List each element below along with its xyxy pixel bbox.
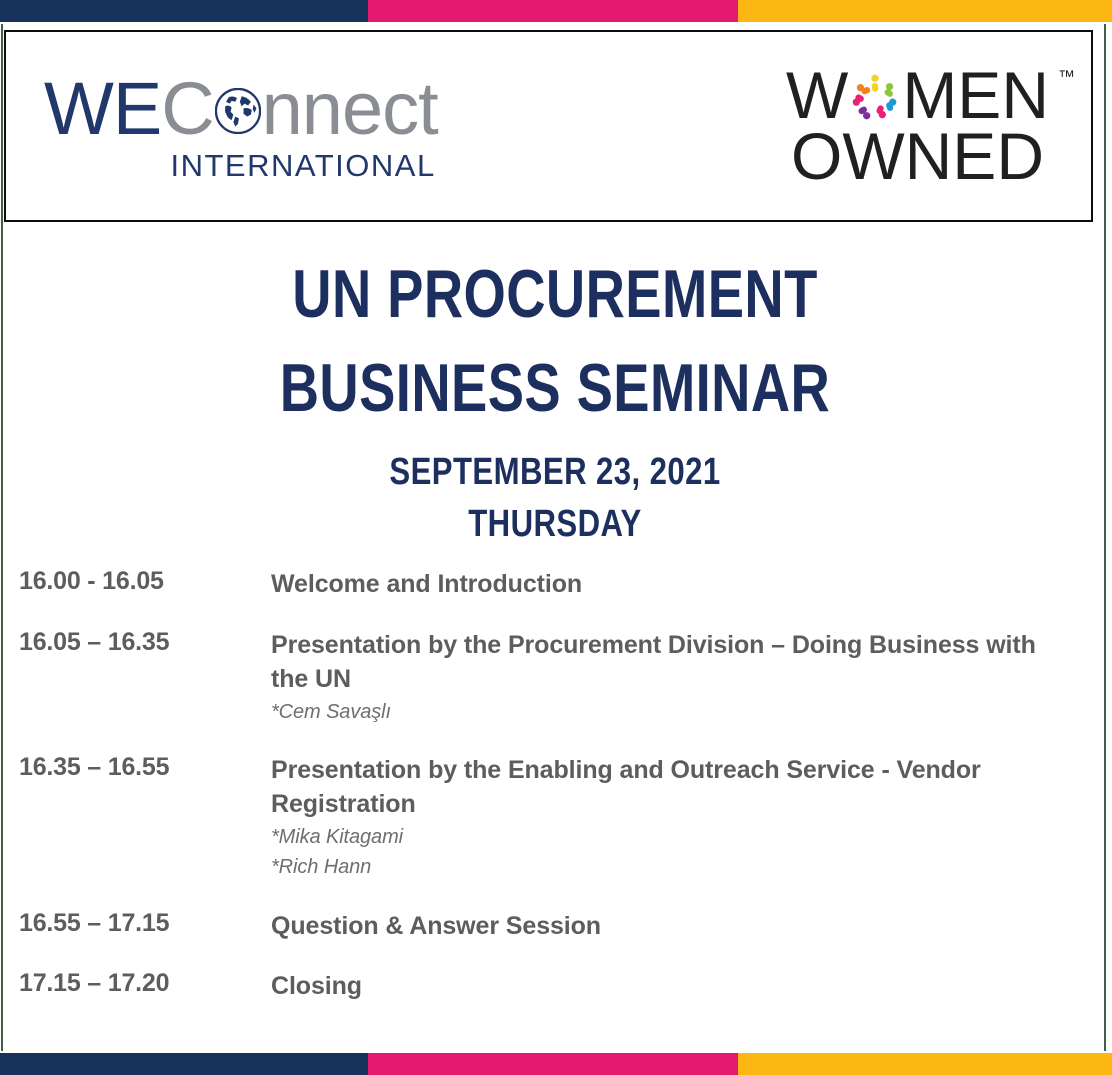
agenda-session-title: Presentation by the Enabling and Outreac… — [271, 753, 1079, 822]
color-bar-segment-pink — [368, 1053, 738, 1075]
agenda-speaker: *Rich Hann — [271, 852, 1079, 882]
event-date: SEPTEMBER 23, 2021 — [256, 446, 855, 498]
agenda-session-title: Welcome and Introduction — [271, 567, 1079, 602]
women-owned-w-text: W — [786, 65, 848, 126]
agenda-details: Welcome and Introduction — [271, 567, 1079, 602]
weconnect-wordmark: WE C nnect — [44, 72, 438, 146]
agenda-time: 16.35 – 16.55 — [19, 753, 271, 783]
agenda-session-title: Question & Answer Session — [271, 909, 1079, 944]
color-bar-segment-pink — [368, 0, 738, 22]
weconnect-c-text: C — [161, 72, 213, 146]
agenda-row: 16.55 – 17.15 Question & Answer Session — [19, 909, 1079, 944]
women-owned-logo: W — [786, 65, 1049, 186]
agenda-session-title: Closing — [271, 969, 1079, 1004]
weconnect-international-logo: WE C nnect INTERNATIONAL — [44, 72, 438, 181]
bottom-color-bar — [0, 1053, 1112, 1075]
agenda-speaker: *Mika Kitagami — [271, 822, 1079, 852]
agenda-details: Closing — [271, 969, 1079, 1004]
weconnect-subtitle: INTERNATIONAL — [170, 150, 435, 181]
agenda-session-title: Presentation by the Procurement Division… — [271, 628, 1079, 697]
people-circle-icon — [849, 70, 901, 122]
agenda-row: 16.05 – 16.35 Presentation by the Procur… — [19, 628, 1079, 727]
agenda-list: 16.00 - 16.05 Welcome and Introduction 1… — [19, 567, 1079, 1004]
agenda-details: Presentation by the Procurement Division… — [271, 628, 1079, 727]
event-weekday: THURSDAY — [256, 498, 855, 550]
page-title: UN PROCUREMENT BUSINESS SEMINAR — [183, 248, 927, 436]
agenda-row: 16.00 - 16.05 Welcome and Introduction — [19, 567, 1079, 602]
agenda-time: 16.55 – 17.15 — [19, 909, 271, 939]
women-owned-line-2: OWNED — [791, 126, 1044, 187]
event-date-block: SEPTEMBER 23, 2021 THURSDAY — [256, 446, 855, 550]
color-bar-segment-navy — [0, 1053, 368, 1075]
color-bar-segment-amber — [738, 0, 1112, 22]
women-owned-men-text: MEN — [902, 65, 1049, 126]
agenda-time: 16.00 - 16.05 — [19, 567, 271, 597]
agenda-time: 16.05 – 16.35 — [19, 628, 271, 658]
trademark-mark: ™ — [1058, 69, 1075, 85]
agenda-row: 16.35 – 16.55 Presentation by the Enabli… — [19, 753, 1079, 883]
agenda-row: 17.15 – 17.20 Closing — [19, 969, 1079, 1004]
agenda-time: 17.15 – 17.20 — [19, 969, 271, 999]
weconnect-we-text: WE — [44, 72, 161, 146]
weconnect-nnect-text: nnect — [262, 72, 438, 146]
logo-header-box: WE C nnect INTERNATIONAL — [4, 30, 1093, 222]
agenda-details: Presentation by the Enabling and Outreac… — [271, 753, 1079, 883]
agenda-speaker: *Cem Savaşlı — [271, 697, 1079, 727]
women-owned-line-1: W — [786, 65, 1049, 126]
top-color-bar — [0, 0, 1112, 22]
color-bar-segment-amber — [738, 1053, 1112, 1075]
globe-icon — [215, 72, 261, 118]
color-bar-segment-navy — [0, 0, 368, 22]
agenda-details: Question & Answer Session — [271, 909, 1079, 944]
